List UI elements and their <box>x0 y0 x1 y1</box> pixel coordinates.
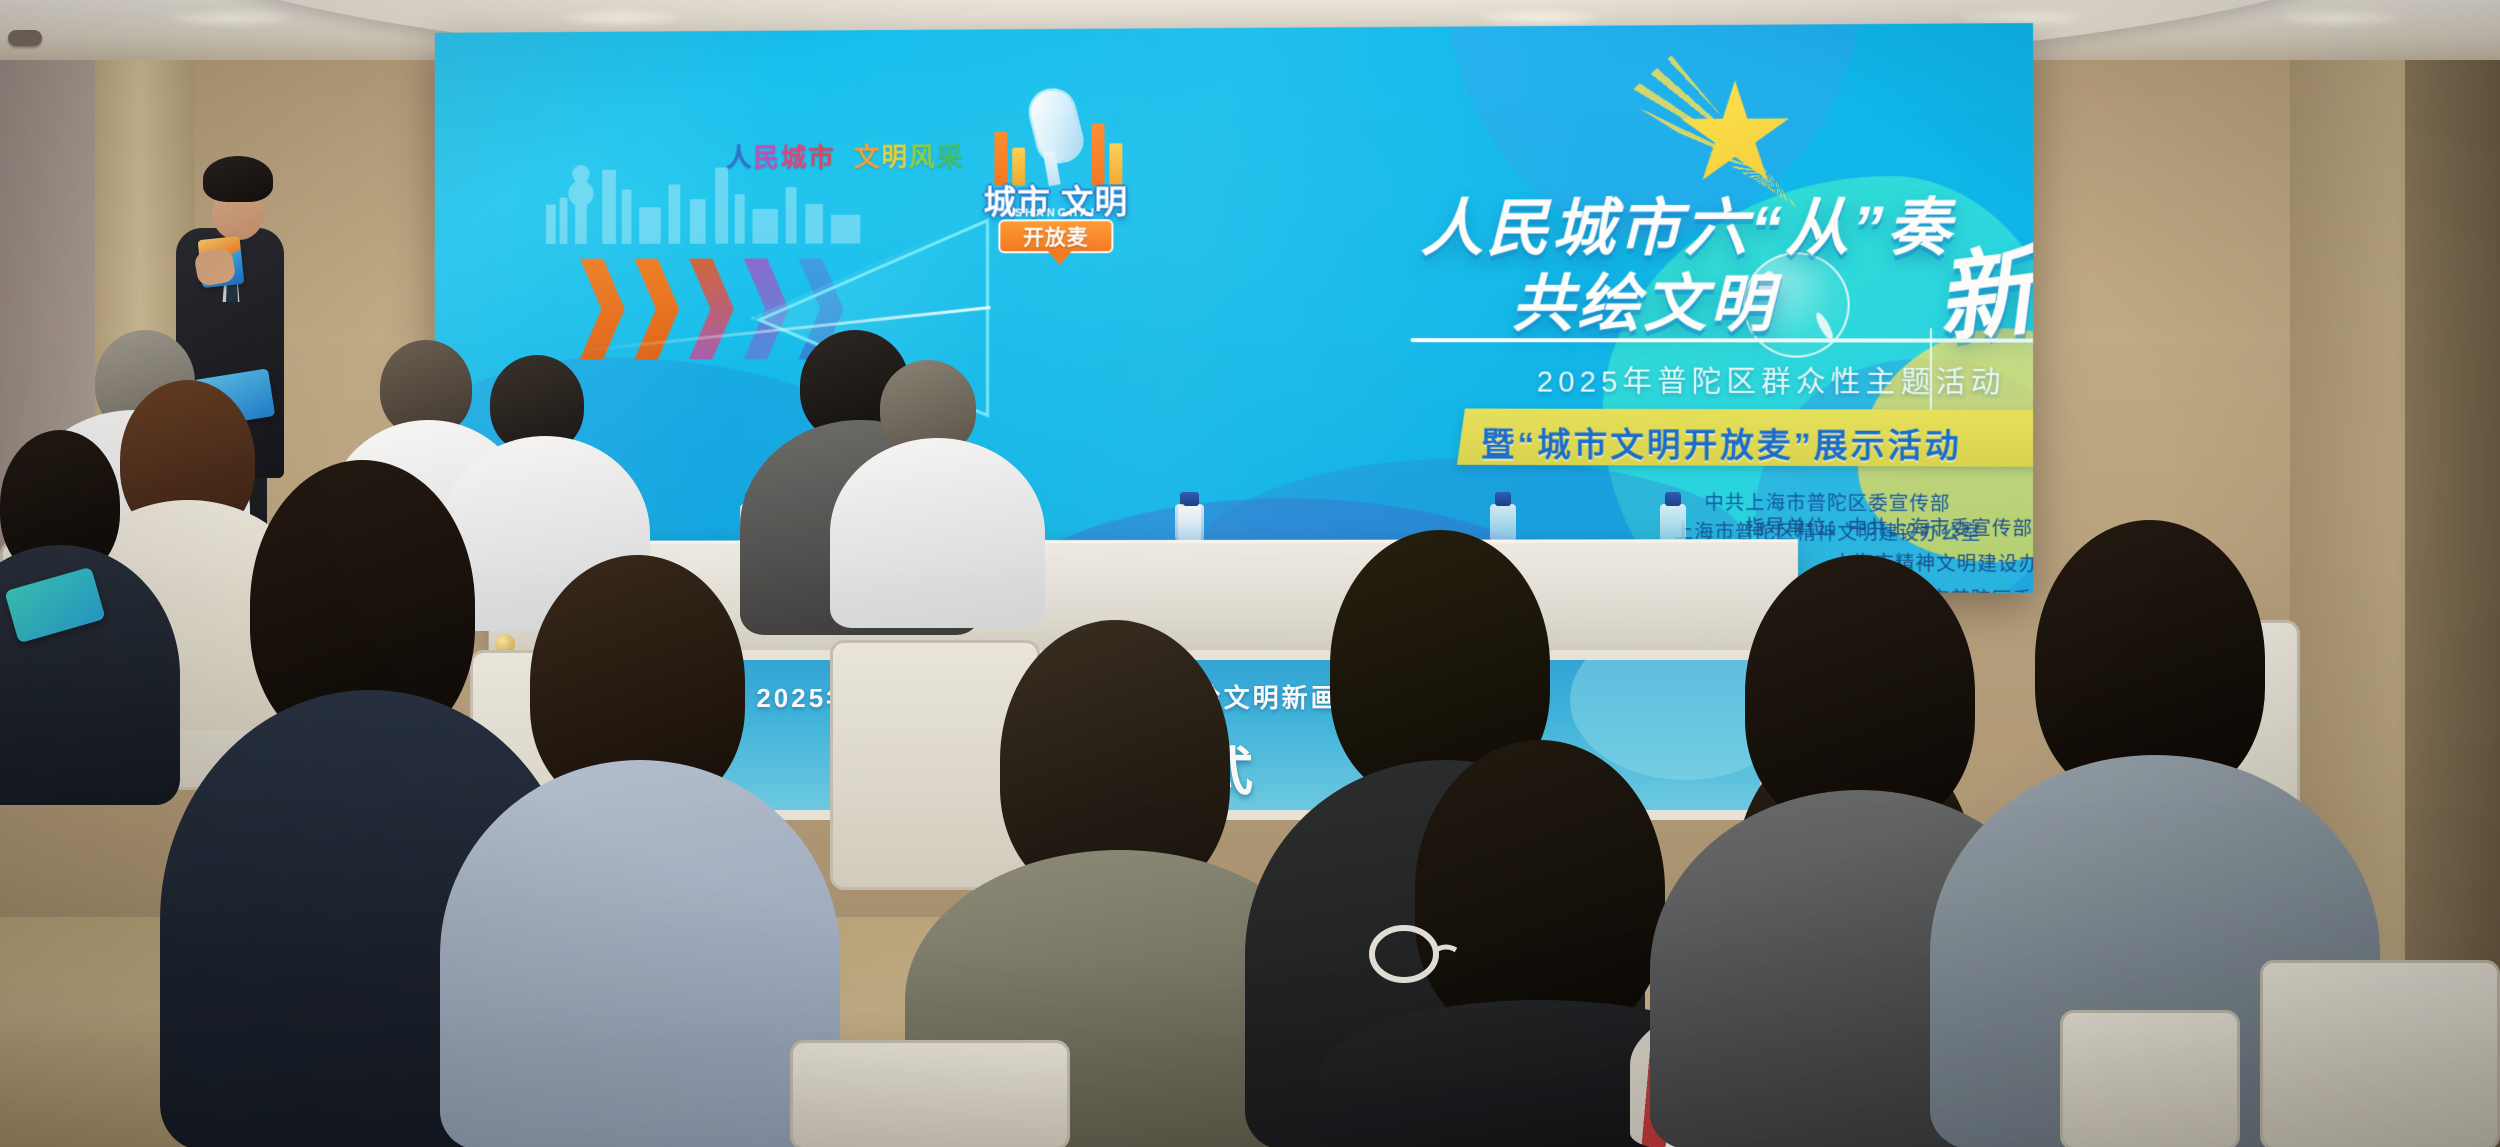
credit-label: 指导单位： <box>1745 517 1847 539</box>
water-bottle <box>1660 504 1686 542</box>
eyeglasses-icon <box>1368 918 1498 988</box>
headline-line-2: 共绘文明 <box>1511 252 1775 343</box>
bottle-cap <box>1665 492 1681 506</box>
water-bottle <box>1490 504 1516 542</box>
ceiling-light <box>2280 10 2400 26</box>
microphone-icon <box>1026 85 1086 165</box>
speaker-hair <box>203 156 273 202</box>
event-subtitle: 2025年普陀区群众性主题活动 <box>1537 358 2006 401</box>
logo-people-city: 人民城市 文明风采 <box>726 137 964 174</box>
logo-openmic-text: 开放麦 <box>1023 221 1088 251</box>
headline-line-2-text: 共绘文明 <box>1511 270 1775 340</box>
arrow-down-icon <box>1930 328 1932 419</box>
led-video-wall: 人民城市 文明风采 城市 文明 SHANGHAI 开放麦 人民城市六“从”奏 <box>435 23 2033 593</box>
ceiling-light <box>1480 10 1600 26</box>
logo-openmic-badge: 开放麦 <box>998 219 1113 253</box>
logo-subtitle: SHANGHAI <box>977 207 1136 219</box>
ceiling-light <box>560 10 680 26</box>
chair <box>2060 1010 2240 1147</box>
bottle-cap <box>1495 492 1511 506</box>
logo-city-civilization-openmic: 城市 文明 SHANGHAI 开放麦 <box>977 83 1136 243</box>
chair <box>2260 960 2500 1147</box>
chair <box>790 1040 1070 1147</box>
bottle-cap <box>1183 492 1199 506</box>
screenshot-root: 人民城市 文明风采 城市 文明 SHANGHAI 开放麦 人民城市六“从”奏 <box>0 0 2500 1147</box>
water-bottle <box>1178 504 1204 542</box>
headline-divider <box>1411 338 2034 343</box>
ceiling-light <box>170 10 290 26</box>
smoke-detector-icon <box>8 30 42 46</box>
yellow-banner-text: 暨“城市文明开放麦”展示活动 <box>1481 418 1962 468</box>
credit-value: 中共上海市委宣传部 <box>1848 518 2033 540</box>
led-content: 人民城市 文明风采 城市 文明 SHANGHAI 开放麦 人民城市六“从”奏 <box>435 23 2033 593</box>
